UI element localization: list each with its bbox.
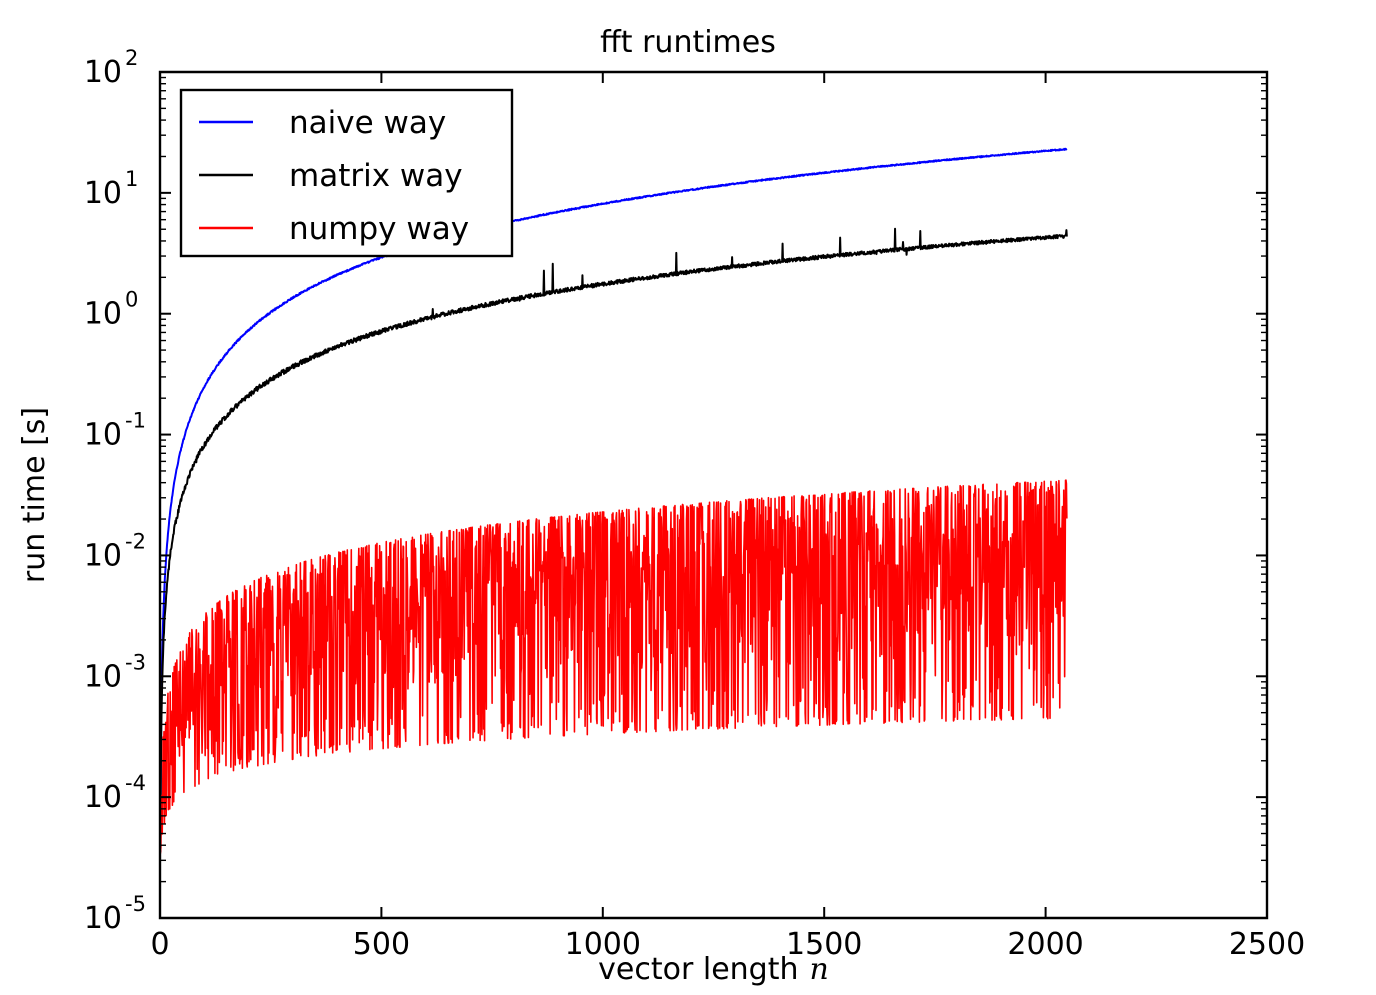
- svg-text:10: 10: [84, 538, 122, 573]
- x-tick-label-500: 500: [353, 927, 410, 962]
- svg-text:-1: -1: [125, 409, 146, 433]
- svg-text:1: 1: [125, 167, 138, 191]
- svg-text:-5: -5: [125, 892, 146, 916]
- svg-text:0: 0: [125, 288, 138, 312]
- figure-canvas: 05001000150020002500 10-510-410-310-210-…: [0, 0, 1376, 995]
- x-axis-label: vector length n: [598, 952, 829, 987]
- svg-text:10: 10: [84, 418, 122, 453]
- svg-text:10: 10: [84, 55, 122, 90]
- svg-text:10: 10: [84, 176, 122, 211]
- svg-text:10: 10: [84, 659, 122, 694]
- svg-text:-3: -3: [125, 650, 146, 674]
- svg-text:-2: -2: [125, 529, 146, 553]
- x-axis-label-math-symbol: n: [810, 952, 829, 987]
- fft-runtimes-chart: 05001000150020002500 10-510-410-310-210-…: [0, 0, 1376, 995]
- chart-legend[interactable]: naive waymatrix waynumpy way: [181, 90, 512, 256]
- y-axis-label: run time [s]: [17, 407, 52, 583]
- svg-text:10: 10: [84, 297, 122, 332]
- svg-text:10: 10: [84, 901, 122, 936]
- legend-label-matrix-way: matrix way: [289, 158, 463, 194]
- legend-label-naive-way: naive way: [289, 105, 446, 141]
- x-tick-label-2000: 2000: [1007, 927, 1083, 962]
- chart-title: fft runtimes: [600, 25, 776, 60]
- x-axis-label-text: vector length: [598, 952, 798, 987]
- svg-text:10: 10: [84, 780, 122, 815]
- x-tick-label-2500: 2500: [1229, 927, 1305, 962]
- x-tick-label-0: 0: [150, 927, 169, 962]
- svg-text:2: 2: [125, 46, 138, 70]
- svg-text:-4: -4: [125, 771, 146, 795]
- legend-label-numpy-way: numpy way: [289, 211, 469, 247]
